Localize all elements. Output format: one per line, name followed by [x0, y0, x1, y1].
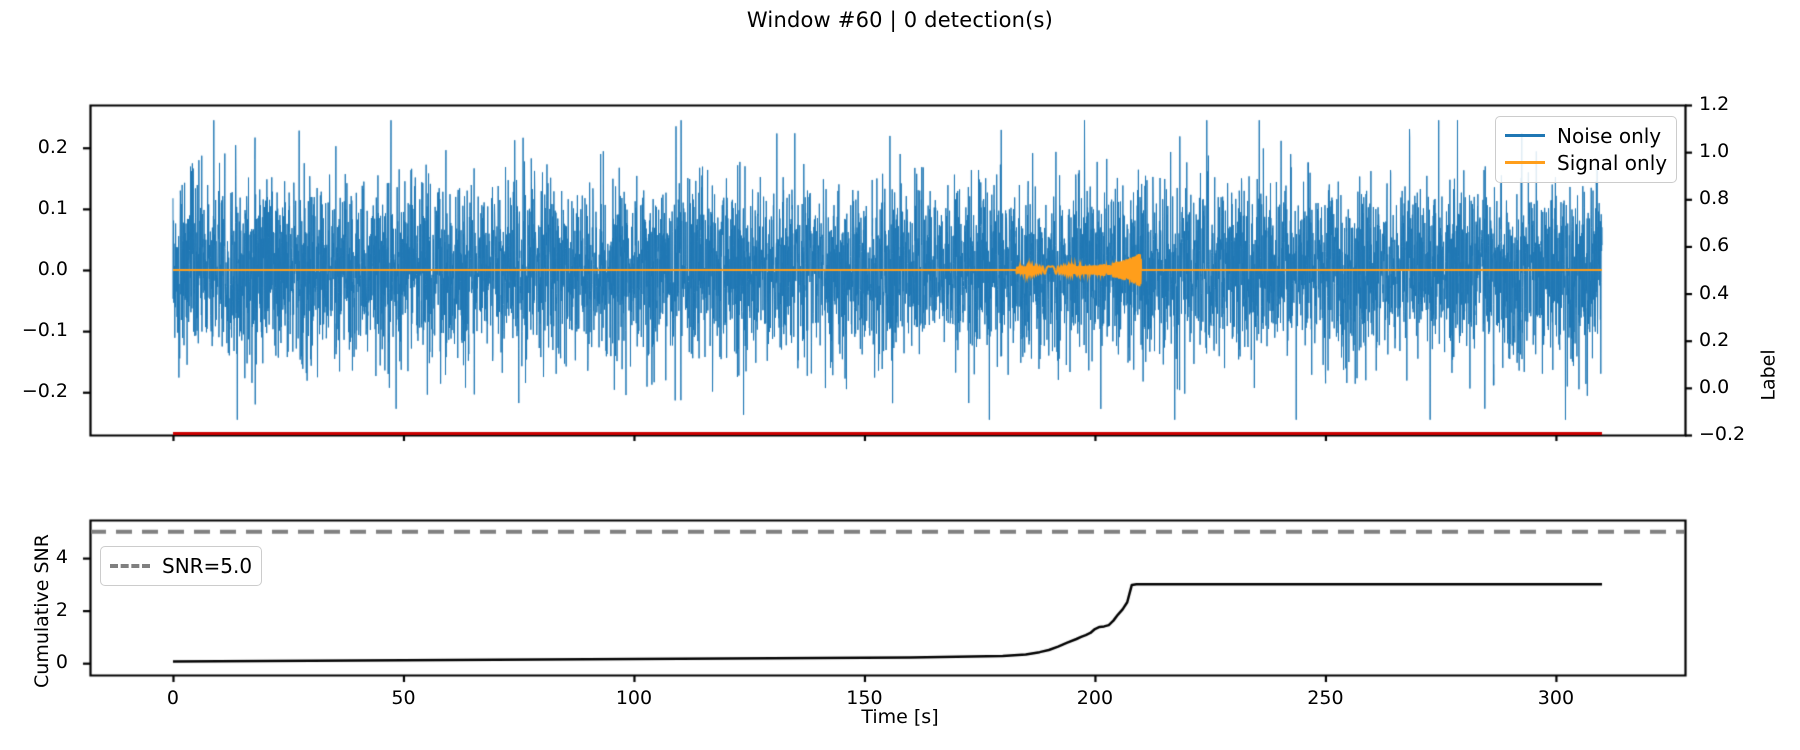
legend-swatch-noise-only: [1505, 134, 1545, 137]
x-tick-300: 300: [1496, 687, 1616, 709]
x-axis-label: Time [s]: [0, 706, 1800, 728]
legend-item-snr-threshold[interactable]: SNR=5.0: [110, 552, 252, 579]
timeseries-legend[interactable]: Noise only Signal only: [1495, 116, 1677, 183]
x-tick-200: 200: [1035, 687, 1155, 709]
y-tick-02: 0.2: [0, 136, 68, 158]
x-tick-50: 50: [343, 687, 463, 709]
legend-label-noise-only: Noise only: [1557, 124, 1661, 148]
chart-plot-area: [0, 0, 1800, 750]
right-y-tick-02: 0.2: [1699, 329, 1729, 351]
y-tick-4: 4: [0, 546, 68, 568]
y-tick-0: 0: [0, 651, 68, 673]
x-tick-0: 0: [113, 687, 233, 709]
figure-canvas-root: Window #60 | 0 detection(s) Time [s] Lab…: [0, 0, 1800, 750]
x-tick-150: 150: [804, 687, 924, 709]
x-tick-100: 100: [574, 687, 694, 709]
legend-swatch-signal-only: [1505, 161, 1545, 164]
right-y-tick-12: 1.2: [1699, 93, 1729, 115]
legend-item-noise-only[interactable]: Noise only: [1505, 122, 1667, 149]
legend-item-signal-only[interactable]: Signal only: [1505, 149, 1667, 176]
y-tick-01: −0.1: [0, 319, 68, 341]
right-y-tick-02: −0.2: [1699, 423, 1745, 445]
legend-swatch-snr-threshold: [110, 564, 150, 568]
right-y-tick-00: 0.0: [1699, 376, 1729, 398]
right-y-tick-08: 0.8: [1699, 187, 1729, 209]
right-y-tick-04: 0.4: [1699, 282, 1729, 304]
legend-label-signal-only: Signal only: [1557, 151, 1667, 175]
right-y-axis-label: Label: [1757, 349, 1779, 400]
page-title: Window #60 | 0 detection(s): [0, 8, 1800, 32]
y-tick-01: 0.1: [0, 197, 68, 219]
right-y-tick-06: 0.6: [1699, 234, 1729, 256]
legend-label-snr-threshold: SNR=5.0: [162, 554, 252, 578]
y-tick-02: −0.2: [0, 380, 68, 402]
snr-threshold-legend[interactable]: SNR=5.0: [100, 546, 262, 586]
right-y-tick-10: 1.0: [1699, 140, 1729, 162]
x-tick-250: 250: [1265, 687, 1385, 709]
y-tick-2: 2: [0, 599, 68, 621]
y-tick-00: 0.0: [0, 258, 68, 280]
